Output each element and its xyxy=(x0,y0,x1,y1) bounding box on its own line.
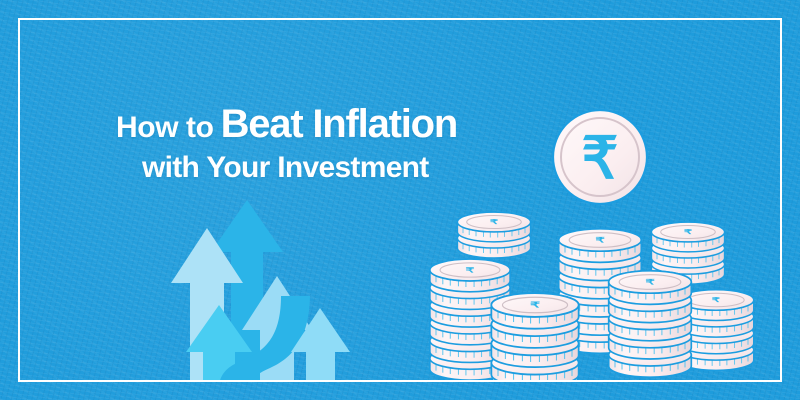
rupee-coins-illustration: ₹ xyxy=(0,0,800,400)
coin-stack-back-left xyxy=(457,212,530,258)
coin-stack-right-middle xyxy=(609,271,692,377)
coin-stack-front-center xyxy=(491,293,578,400)
headline-beat-inflation: Beat Inflation xyxy=(221,102,458,146)
banner-root: ₹ xyxy=(0,0,800,400)
headline-line-1: How toBeat Inflation xyxy=(116,104,536,144)
svg-text:₹: ₹ xyxy=(582,126,619,191)
headline: How toBeat Inflation with Your Investmen… xyxy=(116,104,536,183)
featured-rupee-coin: ₹ xyxy=(553,110,647,204)
headline-line-2: with Your Investment xyxy=(142,153,536,183)
headline-how-to: How to xyxy=(116,111,214,144)
